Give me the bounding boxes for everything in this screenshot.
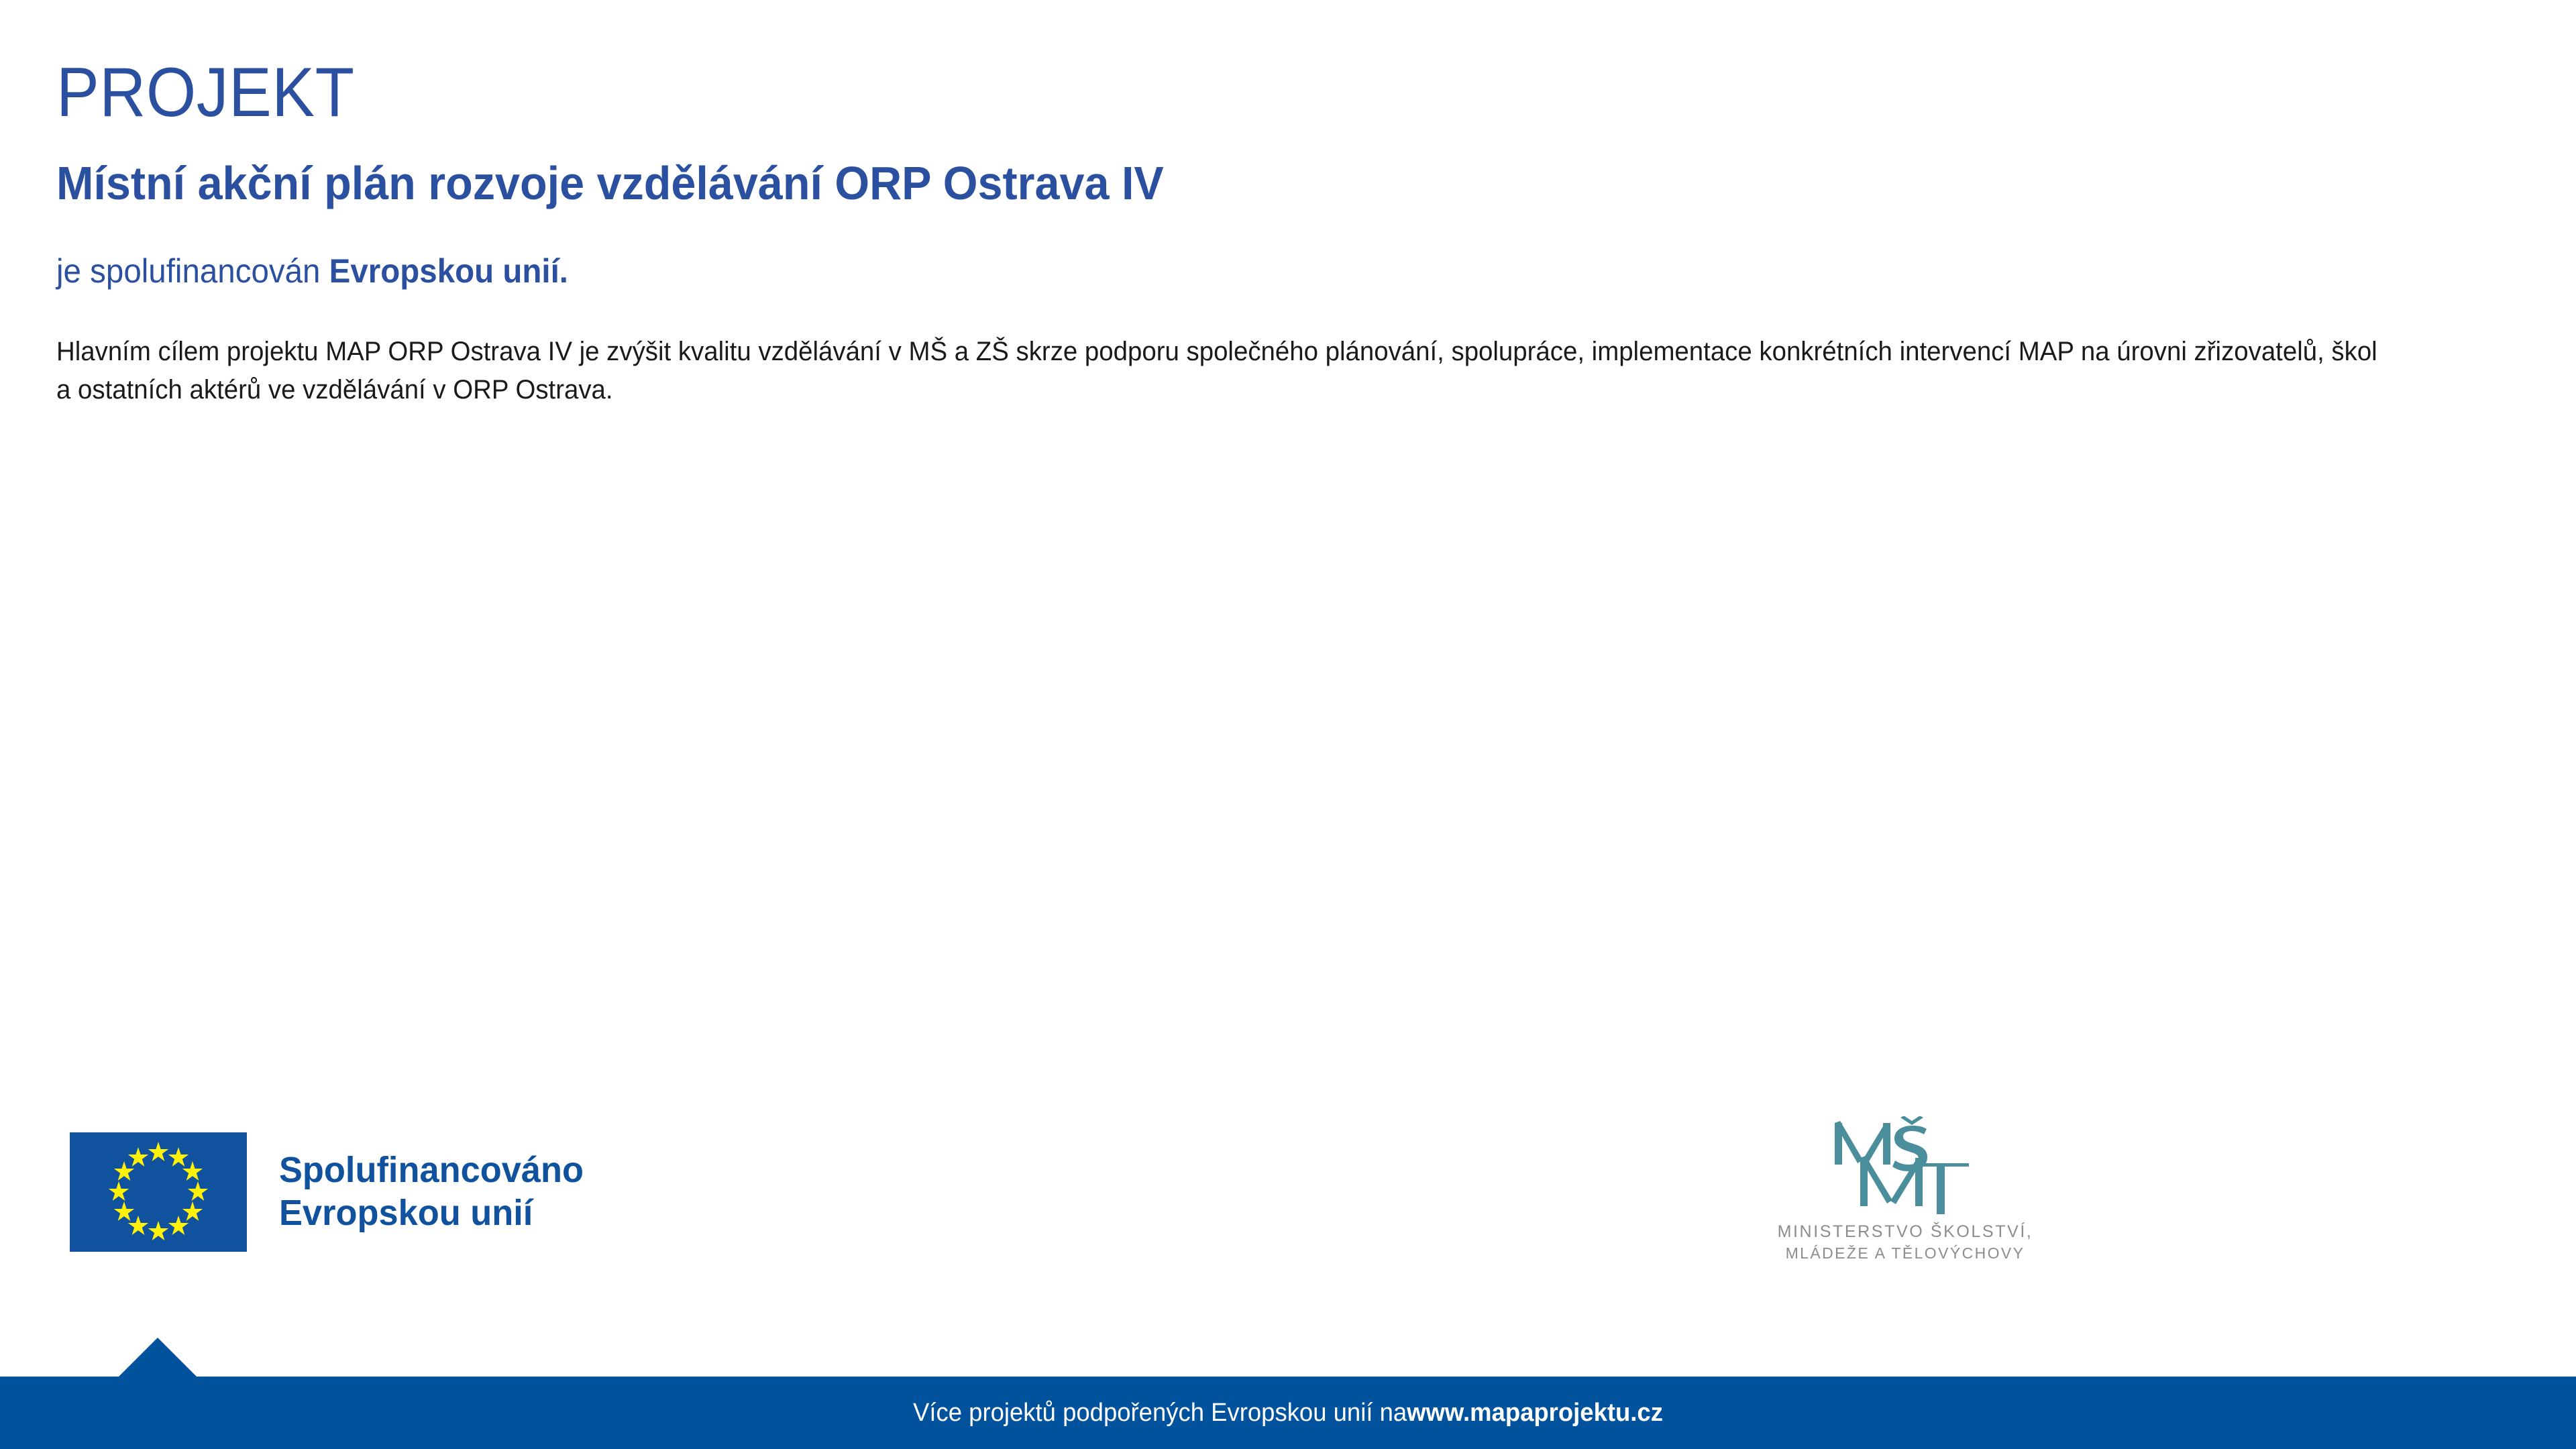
footer-prefix: Více projektů podpořených Evropskou unií…: [913, 1399, 1407, 1428]
eu-logo-line-1: Spolufinancováno: [279, 1149, 584, 1192]
footer-text: Více projektů podpořených Evropskou unií…: [52, 1377, 2524, 1449]
footer-notch-triangle: [119, 1338, 197, 1377]
subtitle-prefix: je spolufinancován: [56, 252, 329, 290]
page-title: Místní akční plán rozvoje vzdělávání ORP…: [56, 127, 2396, 209]
msmt-monogram-icon: [1821, 1116, 1989, 1216]
slide-root: PROJEKT Místní akční plán rozvoje vzdělá…: [0, 0, 2576, 1449]
msmt-label-line-2: MLÁDEŽE A TĚLOVÝCHOVY: [1786, 1244, 2025, 1263]
msmt-label-line-1: MINISTERSTVO ŠKOLSTVÍ,: [1778, 1222, 2033, 1242]
msmt-logo: MINISTERSTVO ŠKOLSTVÍ, MLÁDEŽE A TĚLOVÝC…: [1758, 1116, 2053, 1263]
page-eyebrow: PROJEKT: [56, 0, 2322, 127]
eu-flag-icon: [70, 1132, 247, 1252]
eu-cofunding-logo: Spolufinancováno Evropskou unií: [70, 1132, 593, 1252]
content-block: PROJEKT Místní akční plán rozvoje vzdělá…: [56, 0, 2520, 409]
subtitle-emphasis: Evropskou unií.: [329, 252, 568, 290]
body-paragraph: Hlavním cílem projektu MAP ORP Ostrava I…: [56, 291, 2390, 409]
eu-logo-text: Spolufinancováno Evropskou unií: [279, 1149, 584, 1234]
eu-logo-line-2: Evropskou unií: [279, 1192, 584, 1235]
subtitle-line: je spolufinancován Evropskou unií.: [56, 209, 2396, 291]
footer-url[interactable]: www.mapaprojektu.cz: [1407, 1399, 1663, 1428]
